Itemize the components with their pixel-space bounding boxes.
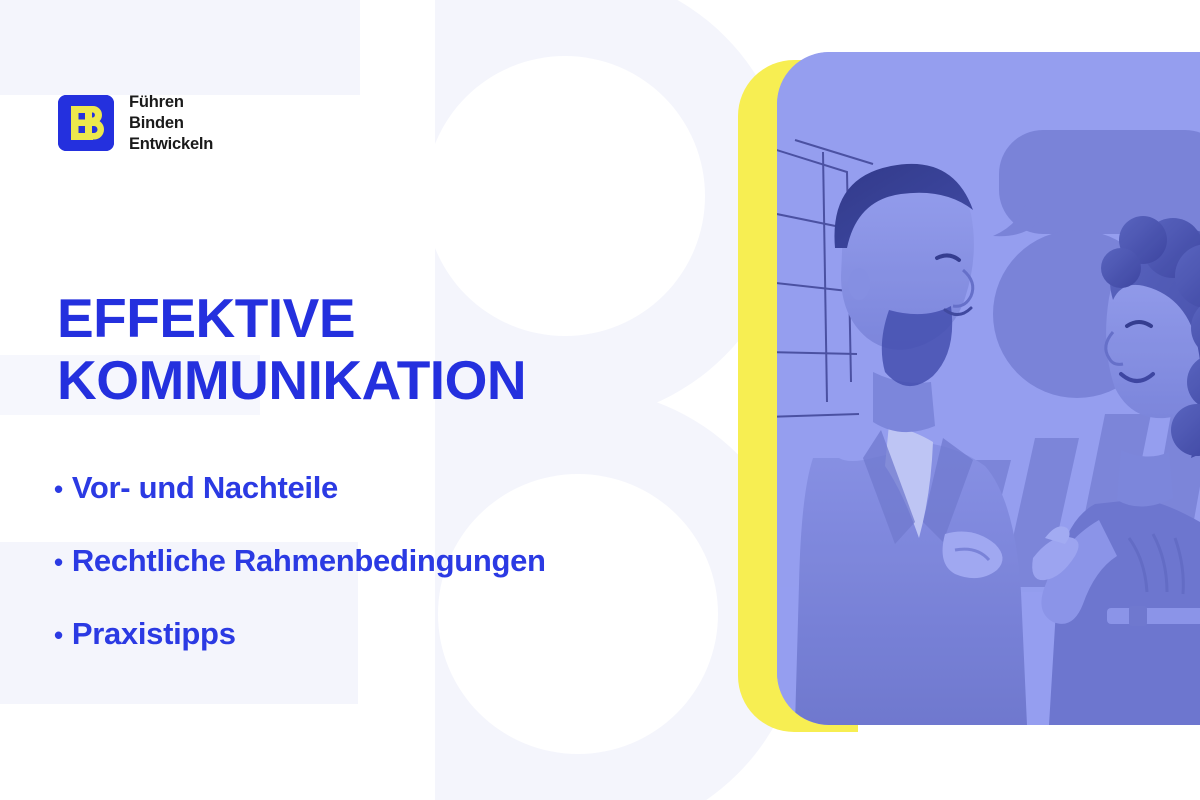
slide-root: Führen Binden Entwickeln EFFEKTIVE KOMMU…	[0, 0, 1200, 800]
list-item-label: Praxistipps	[72, 616, 236, 652]
list-item: • Praxistipps	[54, 616, 546, 689]
bullet-dot-icon: •	[54, 476, 63, 502]
bullet-dot-icon: •	[54, 622, 63, 648]
slide-title-line-2: KOMMUNIKATION	[57, 350, 697, 412]
list-item: • Rechtliche Rahmenbedingungen	[54, 543, 546, 616]
list-item-label: Rechtliche Rahmenbedingungen	[72, 543, 546, 579]
conversation-illustration	[777, 52, 1200, 725]
fb-monogram-icon	[58, 95, 114, 151]
media-area	[735, 52, 1200, 732]
conversation-photo-card	[777, 52, 1200, 725]
list-item-label: Vor- und Nachteile	[72, 470, 338, 506]
brand-logo[interactable]: Führen Binden Entwickeln	[58, 92, 213, 154]
list-item: • Vor- und Nachteile	[54, 470, 546, 543]
bullet-dot-icon: •	[54, 549, 63, 575]
slide-title-line-1: EFFEKTIVE	[57, 288, 697, 350]
content-column: Führen Binden Entwickeln EFFEKTIVE KOMMU…	[0, 0, 720, 800]
logo-word-2: Binden	[129, 113, 213, 134]
slide-title: EFFEKTIVE KOMMUNIKATION	[57, 288, 697, 411]
logo-wordmark: Führen Binden Entwickeln	[129, 92, 213, 154]
agenda-list: • Vor- und Nachteile • Rechtliche Rahmen…	[54, 470, 546, 689]
logo-word-3: Entwickeln	[129, 134, 213, 155]
logo-word-1: Führen	[129, 92, 213, 113]
